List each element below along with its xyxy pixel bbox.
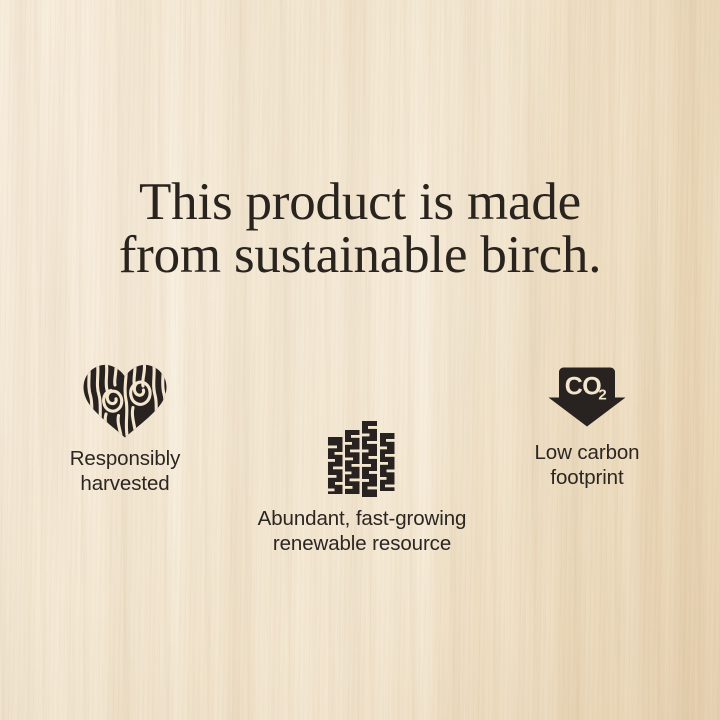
- birch-trunks-icon: [327, 419, 397, 497]
- badge-low-carbon-footprint: CO 2 Low carbon footprint: [487, 366, 687, 490]
- badge-caption: Responsibly harvested: [25, 447, 225, 496]
- wood-grain-heart-icon: [82, 362, 168, 438]
- birch-sustainability-poster: This product is made from sustainable bi…: [0, 0, 720, 720]
- co2-down-arrow-icon: CO 2: [547, 366, 627, 428]
- page-title: This product is made from sustainable bi…: [0, 176, 720, 282]
- co2-icon-label: CO: [565, 373, 602, 401]
- badge-caption: Low carbon footprint: [487, 441, 687, 490]
- poster-content: This product is made from sustainable bi…: [0, 0, 720, 720]
- co2-icon-subscript: 2: [598, 387, 606, 404]
- badge-renewable-resource: Abundant, fast-growing renewable resourc…: [252, 419, 472, 556]
- badge-responsibly-harvested: Responsibly harvested: [25, 362, 225, 496]
- badge-caption: Abundant, fast-growing renewable resourc…: [252, 507, 472, 556]
